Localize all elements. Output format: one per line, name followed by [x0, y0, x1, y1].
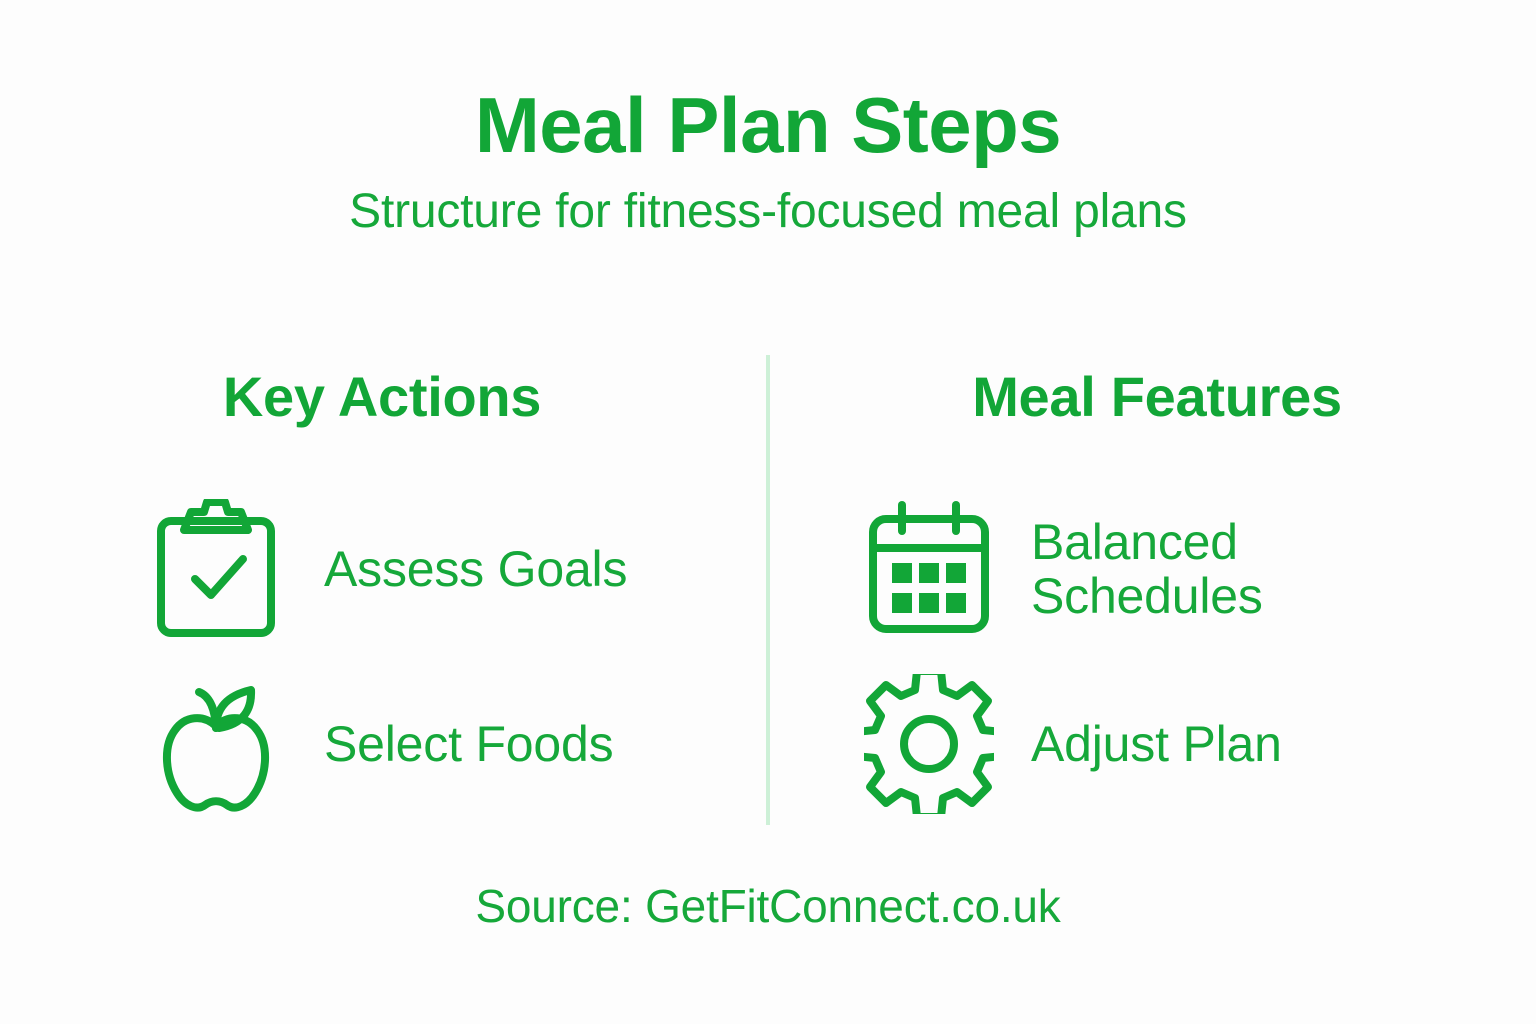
calendar-icon [863, 499, 995, 639]
list-item-label: Assess Goals [324, 542, 627, 596]
clipboard-check-icon [150, 499, 282, 639]
item-list-key-actions: Assess Goals Select Foods [0, 481, 768, 831]
list-item-label: Select Foods [324, 717, 613, 771]
list-item-label: Balanced Schedules [1031, 515, 1263, 623]
list-item-adjust-plan[interactable]: Adjust Plan [768, 656, 1536, 831]
column-meal-features: Meal Features [768, 355, 1536, 830]
page-subtitle: Structure for fitness-focused meal plans [0, 188, 1536, 236]
columns-container: Key Actions Assess Goals [0, 355, 1536, 830]
list-item-balanced-schedules[interactable]: Balanced Schedules [768, 481, 1536, 656]
column-key-actions: Key Actions Assess Goals [0, 355, 768, 830]
source-attribution: Source: GetFitConnect.co.uk [0, 879, 1536, 933]
header: Meal Plan Steps Structure for fitness-fo… [0, 86, 1536, 236]
page-title: Meal Plan Steps [0, 86, 1536, 164]
item-list-meal-features: Balanced Schedules Adjust Plan [768, 481, 1536, 831]
apple-icon [150, 674, 282, 814]
list-item-label: Adjust Plan [1031, 717, 1282, 771]
list-item-assess-goals[interactable]: Assess Goals [0, 481, 768, 656]
infographic-canvas: Meal Plan Steps Structure for fitness-fo… [0, 0, 1536, 1024]
list-item-select-foods[interactable]: Select Foods [0, 656, 768, 831]
column-heading-key-actions: Key Actions [223, 369, 541, 425]
column-heading-meal-features: Meal Features [972, 369, 1342, 425]
gear-icon [863, 674, 995, 814]
